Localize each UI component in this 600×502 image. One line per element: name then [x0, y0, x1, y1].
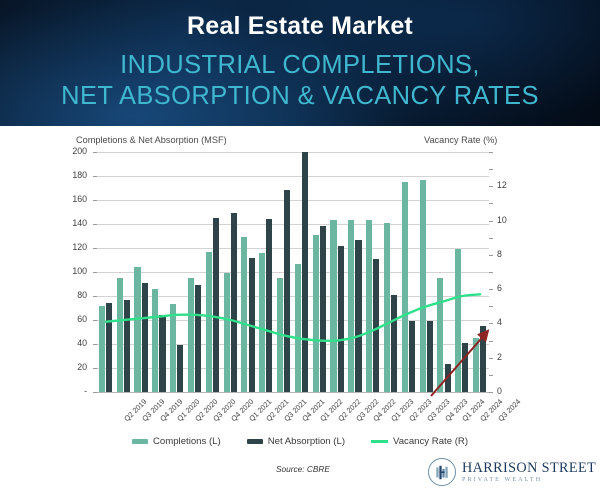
- chart-legend: Completions (L)Net Absorption (L)Vacancy…: [0, 436, 600, 447]
- bar-net-absorption[interactable]: [284, 190, 290, 392]
- bar-completions[interactable]: [206, 252, 212, 392]
- y-axis-right-tickmark: [489, 358, 493, 359]
- y-axis-right-label: 8: [497, 249, 533, 259]
- bar-completions[interactable]: [277, 278, 283, 392]
- y-axis-right-tickmark: [489, 375, 493, 376]
- bar-group[interactable]: [293, 152, 311, 392]
- bar-completions[interactable]: [224, 273, 230, 392]
- logo-wordmark: HARRISON STREET PRIVATE WEALTH: [462, 461, 596, 483]
- bar-net-absorption[interactable]: [213, 218, 219, 392]
- bar-net-absorption[interactable]: [106, 303, 112, 392]
- bar-completions[interactable]: [384, 223, 390, 392]
- y-axis-left-label: 180: [47, 170, 87, 180]
- y-axis-right-label: 12: [497, 180, 533, 190]
- bar-net-absorption[interactable]: [391, 295, 397, 392]
- y-axis-left-tickmark: [93, 392, 97, 393]
- building-icon: [428, 458, 456, 486]
- bar-completions[interactable]: [99, 306, 105, 392]
- bar-completions[interactable]: [348, 220, 354, 392]
- y-axis-right-tickmark: [489, 255, 493, 256]
- bar-group[interactable]: [97, 152, 115, 392]
- y-axis-right-tickmark: [489, 289, 493, 290]
- y-axis-right-tickmark: [489, 238, 493, 239]
- y-axis-right-tickmark: [489, 169, 493, 170]
- bar-group[interactable]: [275, 152, 293, 392]
- y-axis-left-label: 140: [47, 218, 87, 228]
- y-axis-right-label: 0: [497, 386, 533, 396]
- page-subtitle-line1: INDUSTRIAL COMPLETIONS,: [120, 51, 480, 79]
- y-axis-right-tickmark: [489, 186, 493, 187]
- bar-completions[interactable]: [313, 235, 319, 392]
- bar-group[interactable]: [382, 152, 400, 392]
- bar-group[interactable]: [133, 152, 151, 392]
- legend-swatch-icon: [247, 439, 263, 444]
- y-axis-right-tickmark: [489, 306, 493, 307]
- bar-net-absorption[interactable]: [177, 345, 183, 392]
- bar-completions[interactable]: [473, 338, 479, 392]
- bar-completions[interactable]: [259, 253, 265, 392]
- bar-completions[interactable]: [152, 289, 158, 392]
- chart-panel: Completions & Net Absorption (MSF) Vacan…: [0, 126, 600, 502]
- bar-net-absorption[interactable]: [480, 326, 486, 392]
- y-axis-right-tickmark: [489, 323, 493, 324]
- header-banner: Real Estate Market INDUSTRIAL COMPLETION…: [0, 0, 600, 126]
- bar-completions[interactable]: [117, 278, 123, 392]
- bar-group[interactable]: [186, 152, 204, 392]
- bar-net-absorption[interactable]: [266, 219, 272, 392]
- bar-group[interactable]: [400, 152, 418, 392]
- bar-group[interactable]: [168, 152, 186, 392]
- bar-group[interactable]: [204, 152, 222, 392]
- bar-group[interactable]: [240, 152, 258, 392]
- bar-net-absorption[interactable]: [320, 226, 326, 392]
- bar-completions[interactable]: [420, 180, 426, 392]
- bar-group[interactable]: [346, 152, 364, 392]
- source-note: Source: CBRE: [276, 464, 330, 474]
- y-axis-right-label: 6: [497, 283, 533, 293]
- y-axis-right-tickmark: [489, 392, 493, 393]
- plot-area: -20406080100120140160180200 024681012 Q2…: [97, 152, 489, 392]
- bar-completions[interactable]: [134, 267, 140, 392]
- bar-net-absorption[interactable]: [427, 321, 433, 392]
- y-axis-right-tickmark: [489, 152, 493, 153]
- bar-group[interactable]: [471, 152, 489, 392]
- bar-net-absorption[interactable]: [355, 240, 361, 392]
- bar-group[interactable]: [150, 152, 168, 392]
- bar-net-absorption[interactable]: [249, 258, 255, 392]
- bar-completions[interactable]: [366, 220, 372, 392]
- bar-completions[interactable]: [330, 220, 336, 392]
- legend-line-icon: [371, 440, 388, 443]
- y-axis-right-tickmark: [489, 203, 493, 204]
- bar-net-absorption[interactable]: [373, 259, 379, 392]
- legend-swatch-icon: [132, 439, 148, 444]
- bar-net-absorption[interactable]: [142, 283, 148, 392]
- bar-net-absorption[interactable]: [195, 285, 201, 392]
- bar-net-absorption[interactable]: [159, 315, 165, 392]
- slide-root: Real Estate Market INDUSTRIAL COMPLETION…: [0, 0, 600, 502]
- bar-completions[interactable]: [437, 278, 443, 392]
- bar-net-absorption[interactable]: [302, 152, 308, 392]
- y-axis-right-label: 4: [497, 317, 533, 327]
- legend-item[interactable]: Completions (L): [132, 436, 221, 447]
- y-axis-left-label: 100: [47, 266, 87, 276]
- y-axis-left-label: 160: [47, 194, 87, 204]
- bar-completions[interactable]: [295, 264, 301, 392]
- bar-completions[interactable]: [241, 237, 247, 392]
- bar-group[interactable]: [436, 152, 454, 392]
- bar-net-absorption[interactable]: [338, 246, 344, 392]
- bar-net-absorption[interactable]: [409, 321, 415, 392]
- bar-group[interactable]: [453, 152, 471, 392]
- bar-group[interactable]: [418, 152, 436, 392]
- bar-completions[interactable]: [455, 249, 461, 392]
- y-axis-left-label: 80: [47, 290, 87, 300]
- y-axis-left-label: 40: [47, 338, 87, 348]
- y-axis-right-tickmark: [489, 272, 493, 273]
- legend-label: Net Absorption (L): [268, 436, 345, 447]
- bar-group[interactable]: [329, 152, 347, 392]
- logo-company-name: HARRISON STREET: [462, 461, 596, 475]
- bar-series-layer: [97, 152, 489, 392]
- legend-label: Vacancy Rate (R): [393, 436, 468, 447]
- bar-group[interactable]: [115, 152, 133, 392]
- bar-completions[interactable]: [188, 278, 194, 392]
- y-axis-right-tickmark: [489, 341, 493, 342]
- y-axis-right-label: 10: [497, 215, 533, 225]
- bar-group[interactable]: [364, 152, 382, 392]
- bar-completions[interactable]: [402, 182, 408, 392]
- bar-net-absorption[interactable]: [445, 364, 451, 392]
- legend-label: Completions (L): [153, 436, 221, 447]
- legend-item[interactable]: Vacancy Rate (R): [371, 436, 468, 447]
- y-axis-left-label: 20: [47, 362, 87, 372]
- y-axis-left-label: -: [47, 386, 87, 396]
- bar-group[interactable]: [257, 152, 275, 392]
- legend-item[interactable]: Net Absorption (L): [247, 436, 345, 447]
- page-subtitle: INDUSTRIAL COMPLETIONS, NET ABSORPTION &…: [0, 50, 600, 112]
- right-axis-caption: Vacancy Rate (%): [424, 135, 497, 145]
- page-subtitle-line2: NET ABSORPTION & VACANCY RATES: [0, 81, 600, 112]
- y-axis-left-label: 60: [47, 314, 87, 324]
- y-axis-right-tickmark: [489, 221, 493, 222]
- y-axis-left-label: 120: [47, 242, 87, 252]
- y-axis-right-label: 2: [497, 352, 533, 362]
- bar-net-absorption[interactable]: [124, 300, 130, 392]
- page-title: Real Estate Market: [0, 12, 600, 41]
- bar-completions[interactable]: [170, 304, 176, 392]
- bar-group[interactable]: [311, 152, 329, 392]
- bar-net-absorption[interactable]: [231, 213, 237, 392]
- harrison-street-logo: HARRISON STREET PRIVATE WEALTH: [428, 458, 596, 486]
- bar-net-absorption[interactable]: [462, 343, 468, 392]
- y-axis-left-label: 200: [47, 146, 87, 156]
- left-axis-caption: Completions & Net Absorption (MSF): [76, 135, 227, 145]
- logo-tagline: PRIVATE WEALTH: [462, 477, 596, 483]
- bar-group[interactable]: [222, 152, 240, 392]
